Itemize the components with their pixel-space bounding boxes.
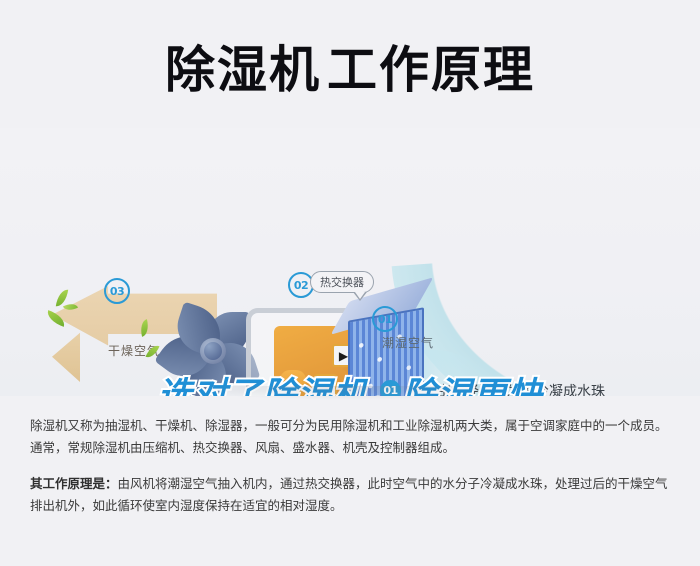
dry-air-step-badge: 03 — [104, 278, 130, 304]
fan-hub — [200, 338, 226, 364]
page-title: 除湿机工作原理 — [0, 30, 700, 102]
paragraph-2: 其工作原理是：由风机将潮湿空气抽入机内，通过热交换器，此时空气中的水分子冷凝成水… — [30, 473, 674, 517]
page-root: 除湿机工作原理 干燥空气 03 — [0, 0, 700, 566]
paragraph-2-rest: 由风机将潮湿空气抽入机内，通过热交换器，此时空气中的水分子冷凝成水珠，处理过后的… — [30, 476, 668, 513]
humid-air-label: 潮湿空气 — [382, 334, 434, 351]
illustration-stage: 干燥空气 03 ▶ ▲ ▼ — [0, 128, 700, 396]
page-title-part1: 除湿机 — [165, 41, 321, 99]
heat-exchanger-callout: 热交换器 — [310, 271, 374, 293]
body-copy: 除湿机又称为抽湿机、干燥机、除湿器，一般可分为民用除湿机和工业除湿机两大类，属于… — [30, 415, 674, 531]
paragraph-2-lead: 其工作原理是： — [30, 476, 118, 491]
illustration-shadow — [170, 386, 530, 400]
humid-air-step-badge: 01 — [372, 306, 398, 332]
page-title-part2: 工作原理 — [327, 41, 535, 99]
paragraph-1: 除湿机又称为抽湿机、干燥机、除湿器，一般可分为民用除湿机和工业除湿机两大类，属于… — [30, 415, 674, 459]
